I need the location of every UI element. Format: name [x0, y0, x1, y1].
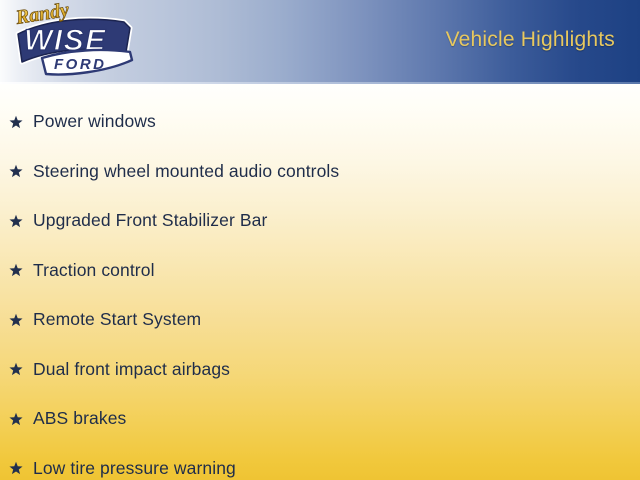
star-icon — [8, 361, 24, 377]
list-item-label: Dual front impact airbags — [33, 359, 230, 380]
list-item-label: ABS brakes — [33, 408, 126, 429]
star-icon — [8, 262, 24, 278]
list-item-label: Upgraded Front Stabilizer Bar — [33, 210, 267, 231]
vehicle-highlights-list: Power windows Steering wheel mounted aud… — [0, 97, 640, 480]
star-icon — [8, 312, 24, 328]
highlights-panel: Power windows Steering wheel mounted aud… — [0, 84, 640, 480]
list-item-label: Steering wheel mounted audio controls — [33, 161, 339, 182]
star-icon — [8, 411, 24, 427]
list-item: Traction control — [0, 246, 640, 296]
list-item: Steering wheel mounted audio controls — [0, 147, 640, 197]
list-item: Upgraded Front Stabilizer Bar — [0, 196, 640, 246]
star-icon — [8, 114, 24, 130]
page-title: Vehicle Highlights — [446, 28, 615, 52]
list-item: Dual front impact airbags — [0, 345, 640, 395]
list-item: ABS brakes — [0, 394, 640, 444]
star-icon — [8, 213, 24, 229]
randy-wise-ford-logo: WISE Randy FORD — [6, 2, 138, 86]
vehicle-highlights-slide: WISE Randy FORD Vehicle Highlights Power… — [0, 0, 640, 480]
list-item: Remote Start System — [0, 295, 640, 345]
list-item: Low tire pressure warning — [0, 444, 640, 480]
list-item-label: Low tire pressure warning — [33, 458, 236, 479]
star-icon — [8, 460, 24, 476]
slide-header: WISE Randy FORD Vehicle Highlights — [0, 0, 640, 82]
star-icon — [8, 163, 24, 179]
list-item-label: Remote Start System — [33, 309, 201, 330]
list-item-label: Power windows — [33, 111, 156, 132]
svg-text:FORD: FORD — [54, 56, 107, 73]
list-item: Power windows — [0, 97, 640, 147]
list-item-label: Traction control — [33, 260, 155, 281]
